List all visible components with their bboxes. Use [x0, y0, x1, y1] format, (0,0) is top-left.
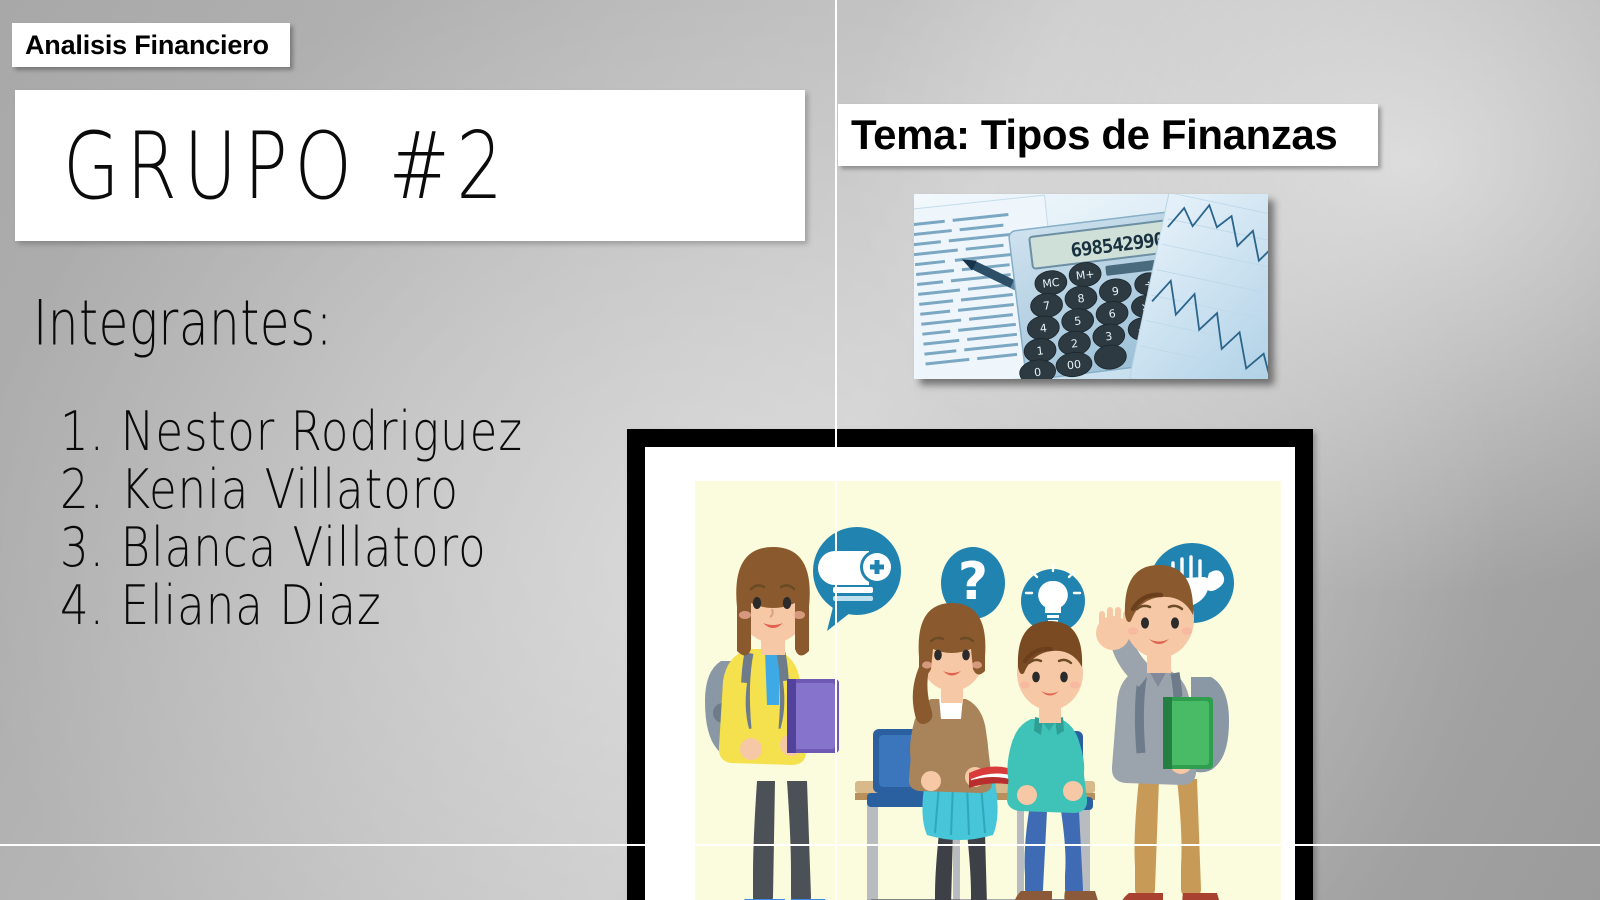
- slide-title-text: Analisis Financiero: [12, 30, 269, 61]
- members-label: Integrantes:: [33, 287, 333, 360]
- illustration-frame-inner: ?: [645, 447, 1295, 900]
- list-item-name: Eliana Diaz: [121, 573, 382, 637]
- svg-text:?: ?: [958, 552, 988, 612]
- list-item-number: 1.: [60, 399, 105, 463]
- list-item-number: 4.: [60, 573, 105, 637]
- topic-box[interactable]: Tema: Tipos de Finanzas: [838, 104, 1378, 166]
- presentation-slide: Analisis Financiero GRUPO #2 Tema: Tipos…: [0, 0, 1600, 900]
- svg-text:M+: M+: [1075, 267, 1095, 282]
- group-heading-text: GRUPO #2: [15, 111, 510, 220]
- members-list: 1.Nestor Rodriguez 2.Kenia Villatoro 3.B…: [60, 402, 532, 634]
- slide-title-box[interactable]: Analisis Financiero: [12, 23, 290, 67]
- svg-text:MC: MC: [1042, 276, 1061, 291]
- calculator-photo[interactable]: 6985429900 M+9÷ 86×: [914, 194, 1268, 379]
- list-item-number: 3.: [60, 515, 105, 579]
- list-item-name: Nestor Rodriguez: [121, 399, 523, 463]
- horizontal-guide-line: [0, 844, 1600, 846]
- list-item-name: Kenia Villatoro: [121, 457, 459, 521]
- topic-text: Tema: Tipos de Finanzas: [838, 111, 1337, 159]
- svg-text:00: 00: [1066, 358, 1081, 373]
- list-item: 4.Eliana Diaz: [60, 571, 523, 639]
- list-item-name: Blanca Villatoro: [121, 515, 487, 579]
- students-illustration: ?: [695, 481, 1281, 900]
- group-heading-box[interactable]: GRUPO #2: [15, 90, 805, 241]
- illustration-frame[interactable]: ?: [627, 429, 1313, 900]
- list-item-number: 2.: [60, 457, 105, 521]
- vertical-guide-line: [835, 0, 837, 900]
